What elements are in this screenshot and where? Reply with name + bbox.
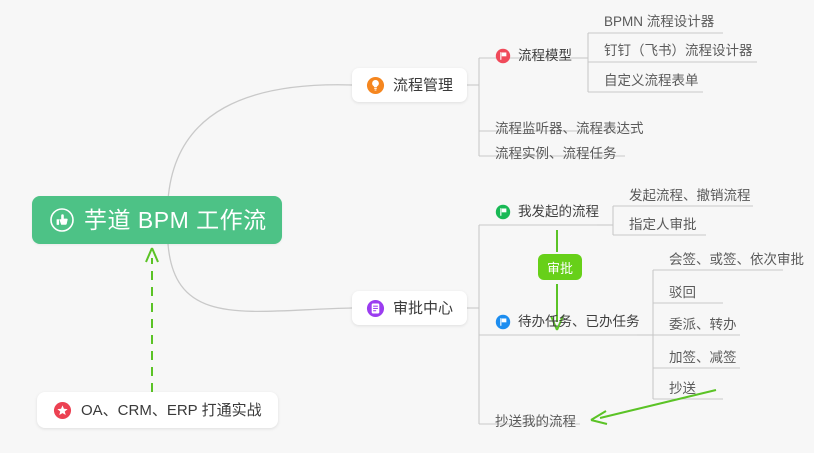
node-label-assignee-approval: 指定人审批: [629, 218, 697, 232]
node-add-remove-sign[interactable]: 加签、减签: [663, 345, 743, 371]
node-cc[interactable]: 抄送: [663, 376, 702, 402]
node-delegate-transfer[interactable]: 委派、转办: [663, 312, 743, 338]
node-cc-to-me-process[interactable]: 抄送我的流程: [489, 409, 582, 435]
note-circle-icon: [366, 299, 385, 318]
node-label-dingtalk-feishu-designer: 钉钉（飞书）流程设计器: [604, 44, 753, 58]
annotation-tag-approval: 审批: [538, 254, 582, 280]
flag-circle-icon: [495, 48, 511, 64]
node-process-instance-task[interactable]: 流程实例、流程任务: [489, 141, 623, 167]
node-label-delegate-transfer: 委派、转办: [669, 318, 737, 332]
node-countersign-orsign-sequential[interactable]: 会签、或签、依次审批: [663, 247, 810, 273]
flag-circle-icon: [495, 314, 511, 330]
branch-node-approval-center[interactable]: 审批中心: [352, 291, 467, 325]
node-label-reject: 驳回: [669, 286, 696, 300]
callout-label: OA、CRM、ERP 打通实战: [81, 403, 262, 418]
thumbs-up-icon: [50, 208, 74, 232]
branch-node-process-management[interactable]: 流程管理: [352, 68, 467, 102]
root-label: 芋道 BPM 工作流: [84, 209, 267, 232]
flag-circle-icon: [495, 204, 511, 220]
root-node[interactable]: 芋道 BPM 工作流: [32, 196, 282, 244]
branch-label-approval-center: 审批中心: [393, 301, 453, 316]
mindmap-canvas: 芋道 BPM 工作流 流程管理 流程模型 流程监听器、流程表达式 流程实例、流: [0, 0, 814, 453]
branch-label-process-management: 流程管理: [393, 78, 453, 93]
link-root-to-process-management: [168, 85, 352, 200]
link-root-to-approval-center: [168, 244, 352, 311]
node-label-countersign-orsign-sequential: 会签、或签、依次审批: [669, 253, 804, 267]
node-process-listener-expression[interactable]: 流程监听器、流程表达式: [489, 116, 650, 142]
node-label-my-initiated-process: 我发起的流程: [518, 205, 599, 219]
node-label-custom-process-form: 自定义流程表单: [604, 74, 699, 88]
node-label-process-listener-expression: 流程监听器、流程表达式: [495, 122, 644, 136]
node-my-initiated-process[interactable]: 我发起的流程: [489, 199, 605, 225]
node-label-start-cancel-process: 发起流程、撤销流程: [629, 189, 751, 203]
node-assignee-approval[interactable]: 指定人审批: [623, 212, 703, 238]
node-reject[interactable]: 驳回: [663, 280, 702, 306]
node-label-process-instance-task: 流程实例、流程任务: [495, 147, 617, 161]
node-process-model[interactable]: 流程模型: [489, 43, 578, 69]
star-circle-icon: [53, 401, 72, 420]
node-label-todo-done-task: 待办任务、已办任务: [518, 315, 640, 329]
node-label-cc: 抄送: [669, 382, 696, 396]
lightbulb-icon: [366, 76, 385, 95]
node-dingtalk-feishu-designer[interactable]: 钉钉（飞书）流程设计器: [598, 38, 759, 64]
node-label-cc-to-me-process: 抄送我的流程: [495, 415, 576, 429]
annotation-arrow-callout: [146, 248, 158, 392]
callout-node[interactable]: OA、CRM、ERP 打通实战: [37, 392, 278, 428]
node-label-process-model: 流程模型: [518, 49, 572, 63]
node-custom-process-form[interactable]: 自定义流程表单: [598, 68, 705, 94]
node-bpmn-designer[interactable]: BPMN 流程设计器: [598, 9, 720, 35]
node-todo-done-task[interactable]: 待办任务、已办任务: [489, 309, 646, 335]
node-label-bpmn-designer: BPMN 流程设计器: [604, 15, 714, 29]
node-start-cancel-process[interactable]: 发起流程、撤销流程: [623, 183, 757, 209]
node-label-add-remove-sign: 加签、减签: [669, 351, 737, 365]
